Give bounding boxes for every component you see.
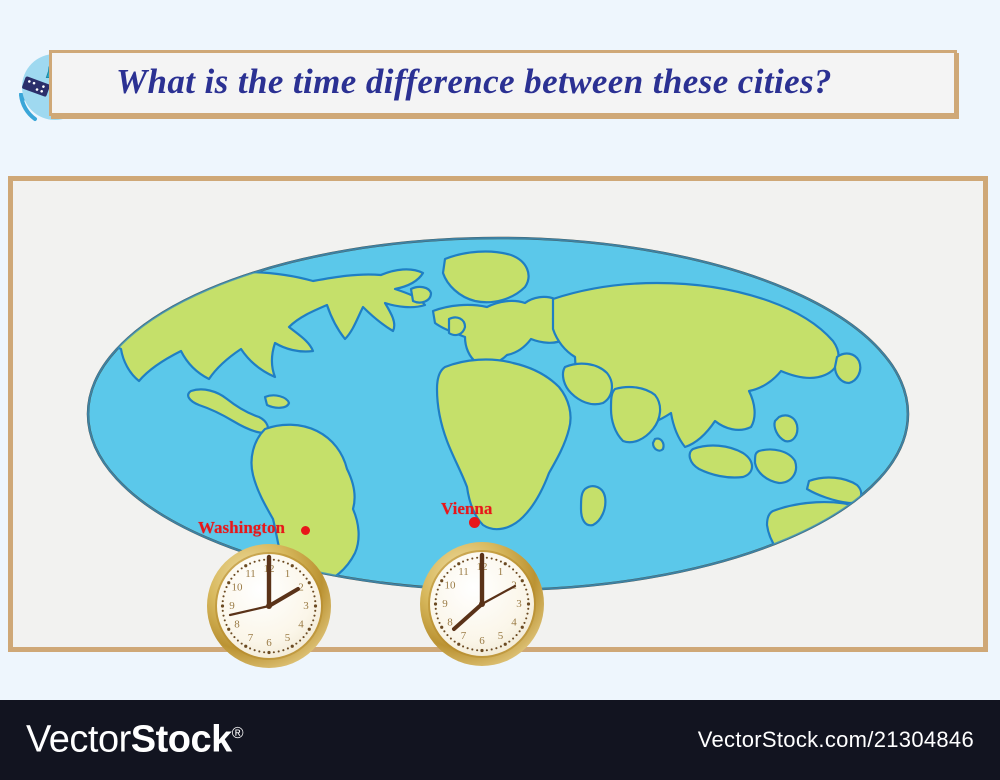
vienna-clock: 123456789101112	[419, 541, 545, 667]
clock-numeral-8: 8	[447, 617, 453, 629]
clock-numeral-7: 7	[461, 630, 467, 642]
clock-numeral-4: 4	[511, 617, 517, 629]
land-sri-lanka	[653, 439, 664, 451]
vectorstock-logo: VectorStock®	[26, 719, 243, 762]
land-iceland	[411, 287, 431, 303]
header-banner: What is the time difference between thes…	[49, 50, 957, 116]
clock-numeral-9: 9	[229, 600, 235, 612]
clock-numeral-7: 7	[248, 632, 254, 644]
clock-numeral-3: 3	[303, 600, 309, 612]
clock-numeral-9: 9	[442, 598, 448, 610]
land-new-zealand	[911, 564, 931, 591]
world-globe: Washington Vienna	[13, 181, 983, 647]
clock-numeral-6: 6	[479, 635, 485, 647]
city-marker-vienna	[469, 517, 480, 528]
logo-light-part: Vector	[26, 719, 131, 761]
clock-numeral-1: 1	[285, 568, 291, 580]
clock-numeral-8: 8	[234, 619, 240, 631]
clock-numeral-5: 5	[285, 632, 291, 644]
clock-numeral-3: 3	[516, 598, 522, 610]
city-marker-washington	[301, 526, 310, 535]
clock-numeral-6: 6	[266, 637, 272, 649]
city-label-vienna: Vienna	[441, 499, 492, 519]
clock-numeral-1: 1	[498, 566, 504, 578]
vectorstock-url: VectorStock.com/21304846	[698, 727, 974, 753]
land-uk	[449, 317, 465, 335]
page-title: What is the time difference between thes…	[116, 62, 832, 102]
page-root: ? What is the time difference between th…	[0, 0, 1000, 780]
clock-numeral-10: 10	[444, 580, 456, 592]
footer-bar: VectorStock® VectorStock.com/21304846	[0, 700, 1000, 780]
clock-numeral-5: 5	[498, 630, 504, 642]
land-japan	[835, 354, 860, 383]
city-label-washington: Washington	[198, 518, 285, 538]
clock-numeral-10: 10	[231, 582, 243, 594]
clock-numeral-11: 11	[245, 568, 256, 580]
logo-bold-part: Stock	[131, 719, 232, 761]
clock-numeral-11: 11	[458, 566, 469, 578]
map-panel: Washington Vienna	[8, 176, 988, 652]
washington-clock: 123456789101112	[206, 543, 332, 669]
registered-mark-icon: ®	[232, 725, 243, 742]
clock-numeral-4: 4	[298, 619, 304, 631]
